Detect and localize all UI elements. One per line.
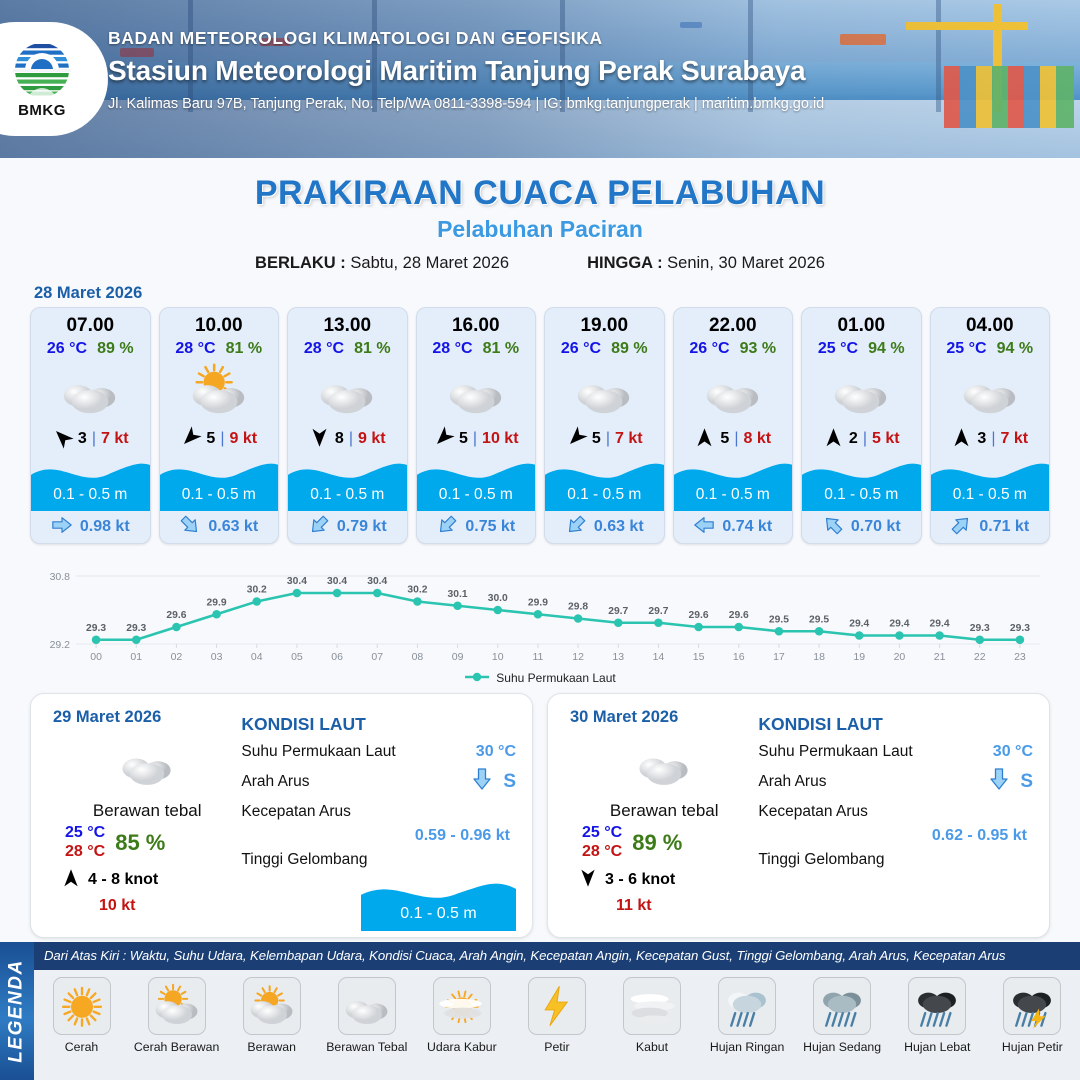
legend-item-label: Petir bbox=[544, 1040, 569, 1054]
card-time: 04.00 bbox=[931, 308, 1050, 337]
card-wind-row: 3 | 7 kt bbox=[931, 422, 1050, 456]
current-direction-arrow-icon bbox=[51, 514, 73, 541]
card-wave-height: 0.1 - 0.5 m bbox=[288, 486, 407, 504]
card-gust: 9 kt bbox=[358, 430, 386, 448]
current-direction-arrow-icon bbox=[822, 514, 844, 541]
svg-text:02: 02 bbox=[171, 651, 183, 663]
card-current-row: 0.63 kt bbox=[545, 511, 664, 543]
legend-side-tab: LEGENDA bbox=[0, 942, 34, 1080]
card-temperature: 26 °C bbox=[561, 340, 601, 358]
summary-wave-value: 0.1 - 0.5 m bbox=[361, 905, 516, 923]
sst-chart: 30.829.200010203040506070809101112131415… bbox=[30, 558, 1050, 670]
wave-height-row: Tinggi Gelombang bbox=[758, 845, 1033, 875]
bmkg-logo-mark bbox=[11, 39, 73, 101]
station-name: Stasiun Meteorologi Maritim Tanjung Pera… bbox=[108, 55, 824, 87]
card-humidity: 89 % bbox=[97, 340, 133, 358]
current-direction-arrow-icon bbox=[308, 514, 330, 541]
card-wave-graphic: 0.1 - 0.5 m bbox=[674, 457, 793, 511]
summary-gust: 11 kt bbox=[570, 897, 758, 915]
hourly-forecast-row: 07.00 26 °C 89 % 3 | 7 kt 0.1 - 0.5 m 0.… bbox=[0, 307, 1080, 544]
current-speed-row: Kecepatan Arus bbox=[241, 797, 516, 827]
summary-wave-graphic: 0.1 - 0.5 m bbox=[361, 877, 516, 931]
svg-text:19: 19 bbox=[853, 651, 865, 663]
legend-icon-cerah bbox=[53, 977, 111, 1035]
summary-weather-icon bbox=[570, 733, 758, 795]
svg-text:30.8: 30.8 bbox=[50, 571, 71, 583]
legend-icon-cerah-berawan bbox=[148, 977, 206, 1035]
card-weather-icon bbox=[931, 360, 1050, 422]
page-title-block: PRAKIRAAN CUACA PELABUHAN Pelabuhan Paci… bbox=[0, 174, 1080, 273]
valid-from-value: Sabtu, 28 Maret 2026 bbox=[350, 254, 509, 272]
legend-item: Udara Kabur bbox=[416, 977, 508, 1054]
card-weather-icon bbox=[288, 360, 407, 422]
wind-direction-arrow-icon bbox=[951, 427, 972, 452]
card-wind-speed: 8 bbox=[335, 430, 344, 448]
wave-height-row: Tinggi Gelombang bbox=[241, 845, 516, 875]
legend-item: Hujan Ringan bbox=[701, 977, 793, 1054]
svg-text:01: 01 bbox=[130, 651, 142, 663]
current-direction-value: S bbox=[1020, 771, 1033, 793]
svg-text:30.1: 30.1 bbox=[448, 589, 468, 600]
svg-text:12: 12 bbox=[572, 651, 584, 663]
summary-temps: 25 °C 28 °C bbox=[582, 824, 622, 862]
card-temperature: 26 °C bbox=[47, 340, 87, 358]
legend-icon-petir bbox=[528, 977, 586, 1035]
card-current-speed: 0.71 kt bbox=[979, 518, 1029, 536]
card-current-row: 0.75 kt bbox=[417, 511, 536, 543]
wind-separator: | bbox=[349, 430, 353, 448]
svg-text:29.4: 29.4 bbox=[889, 619, 909, 630]
legend-icon-hujan-petir bbox=[1003, 977, 1061, 1035]
card-humidity: 94 % bbox=[868, 340, 904, 358]
sst-chart-legend: Suhu Permukaan Laut bbox=[0, 671, 1080, 685]
svg-text:30.4: 30.4 bbox=[287, 576, 307, 587]
card-humidity: 81 % bbox=[483, 340, 519, 358]
page-header-banner: BMKG BADAN METEOROLOGI KLIMATOLOGI DAN G… bbox=[0, 0, 1080, 158]
card-current-speed: 0.75 kt bbox=[465, 518, 515, 536]
card-current-speed: 0.63 kt bbox=[594, 518, 644, 536]
sst-value: 30 °C bbox=[476, 743, 516, 761]
card-weather-icon bbox=[674, 360, 793, 422]
svg-text:22: 22 bbox=[974, 651, 986, 663]
wave-height-label: Tinggi Gelombang bbox=[758, 851, 884, 869]
current-direction-arrow-icon bbox=[565, 514, 587, 541]
contact-line: Jl. Kalimas Baru 97B, Tanjung Perak, No.… bbox=[108, 96, 824, 112]
svg-text:29.8: 29.8 bbox=[568, 602, 588, 613]
card-temperature: 26 °C bbox=[689, 340, 729, 358]
card-wave-height: 0.1 - 0.5 m bbox=[31, 486, 150, 504]
card-temp-humidity: 26 °C 89 % bbox=[31, 340, 150, 358]
current-speed-label: Kecepatan Arus bbox=[758, 803, 867, 821]
card-gust: 8 kt bbox=[743, 430, 771, 448]
summary-condition: Berawan tebal bbox=[570, 801, 758, 821]
sst-value: 30 °C bbox=[993, 743, 1033, 761]
svg-text:08: 08 bbox=[412, 651, 424, 663]
summary-date: 29 Maret 2026 bbox=[53, 708, 241, 727]
card-temperature: 28 °C bbox=[304, 340, 344, 358]
card-time: 10.00 bbox=[160, 308, 279, 337]
summary-condition: Berawan tebal bbox=[53, 801, 241, 821]
card-wind-speed: 5 bbox=[459, 430, 468, 448]
legend-side-title: LEGENDA bbox=[6, 959, 28, 1062]
legend-item-label: Cerah bbox=[65, 1040, 99, 1054]
card-wind-speed: 5 bbox=[592, 430, 601, 448]
svg-text:04: 04 bbox=[251, 651, 263, 663]
summary-wind-range: 4 - 8 knot bbox=[88, 871, 158, 889]
svg-text:17: 17 bbox=[773, 651, 785, 663]
current-direction-value-group: S bbox=[987, 767, 1033, 797]
sst-row: Suhu Permukaan Laut 30 °C bbox=[758, 737, 1033, 767]
card-temp-humidity: 28 °C 81 % bbox=[417, 340, 536, 358]
legend-item: Berawan Tebal bbox=[321, 977, 413, 1054]
wind-separator: | bbox=[606, 430, 610, 448]
legend-note: Dari Atas Kiri : Waktu, Suhu Udara, Kele… bbox=[34, 942, 1080, 970]
svg-text:16: 16 bbox=[733, 651, 745, 663]
summary-sea-conditions: KONDISI LAUT Suhu Permukaan Laut 30 °C A… bbox=[758, 708, 1049, 937]
card-current-speed: 0.70 kt bbox=[851, 518, 901, 536]
card-wind-row: 5 | 7 kt bbox=[545, 422, 664, 456]
svg-text:29.4: 29.4 bbox=[849, 619, 869, 630]
forecast-card: 01.00 25 °C 94 % 2 | 5 kt 0.1 - 0.5 m 0.… bbox=[801, 307, 922, 544]
svg-text:30.2: 30.2 bbox=[407, 585, 427, 596]
wind-direction-arrow-icon bbox=[823, 427, 844, 452]
svg-text:29.3: 29.3 bbox=[126, 623, 146, 634]
legend-item: Berawan bbox=[226, 977, 318, 1054]
card-wave-graphic: 0.1 - 0.5 m bbox=[931, 457, 1050, 511]
svg-text:20: 20 bbox=[894, 651, 906, 663]
card-wave-graphic: 0.1 - 0.5 m bbox=[31, 457, 150, 511]
svg-text:13: 13 bbox=[612, 651, 624, 663]
card-temp-humidity: 28 °C 81 % bbox=[288, 340, 407, 358]
card-wave-height: 0.1 - 0.5 m bbox=[931, 486, 1050, 504]
card-time: 13.00 bbox=[288, 308, 407, 337]
page-title: PRAKIRAAN CUACA PELABUHAN bbox=[0, 174, 1080, 213]
svg-text:14: 14 bbox=[653, 651, 665, 663]
forecast-card: 13.00 28 °C 81 % 8 | 9 kt 0.1 - 0.5 m 0.… bbox=[287, 307, 408, 544]
svg-text:09: 09 bbox=[452, 651, 464, 663]
sst-label: Suhu Permukaan Laut bbox=[241, 743, 395, 761]
legend-item: Kabut bbox=[606, 977, 698, 1054]
forecast-card: 10.00 28 °C 81 % 5 | 9 kt 0.1 - 0.5 m 0.… bbox=[159, 307, 280, 544]
summary-wind-direction-arrow-icon bbox=[61, 868, 81, 893]
legend-item-label: Kabut bbox=[636, 1040, 668, 1054]
svg-text:29.6: 29.6 bbox=[166, 610, 186, 621]
card-wave-graphic: 0.1 - 0.5 m bbox=[545, 457, 664, 511]
svg-text:30.4: 30.4 bbox=[327, 576, 347, 587]
card-wave-height: 0.1 - 0.5 m bbox=[160, 486, 279, 504]
current-speed-value: 0.62 - 0.95 kt bbox=[758, 827, 1033, 845]
current-direction-arrow-icon bbox=[693, 514, 715, 541]
wind-separator: | bbox=[92, 430, 96, 448]
current-direction-row: Arah Arus S bbox=[758, 767, 1033, 797]
summary-humidity: 85 % bbox=[115, 830, 165, 856]
card-wind-speed: 3 bbox=[78, 430, 87, 448]
card-wind-speed: 2 bbox=[849, 430, 858, 448]
sst-label: Suhu Permukaan Laut bbox=[758, 743, 912, 761]
wind-direction-arrow-icon bbox=[309, 427, 330, 452]
legend-item-label: Udara Kabur bbox=[427, 1040, 497, 1054]
card-wind-row: 2 | 5 kt bbox=[802, 422, 921, 456]
card-gust: 10 kt bbox=[482, 430, 518, 448]
summary-temps: 25 °C 28 °C bbox=[65, 824, 105, 862]
svg-text:05: 05 bbox=[291, 651, 303, 663]
legend-icon-kabut bbox=[623, 977, 681, 1035]
card-wave-height: 0.1 - 0.5 m bbox=[545, 486, 664, 504]
current-speed-value: 0.59 - 0.96 kt bbox=[241, 827, 516, 845]
card-wind-row: 5 | 9 kt bbox=[160, 422, 279, 456]
current-speed-row: Kecepatan Arus bbox=[758, 797, 1033, 827]
summary-temp-max: 28 °C bbox=[65, 843, 105, 862]
svg-text:29.3: 29.3 bbox=[86, 623, 106, 634]
card-gust: 7 kt bbox=[101, 430, 129, 448]
card-wave-height: 0.1 - 0.5 m bbox=[802, 486, 921, 504]
svg-text:29.7: 29.7 bbox=[648, 606, 668, 617]
svg-text:00: 00 bbox=[90, 651, 102, 663]
page-subtitle: Pelabuhan Paciran bbox=[0, 216, 1080, 243]
current-speed-block: Kecepatan Arus 0.59 - 0.96 kt bbox=[241, 797, 516, 845]
summary-wind-row: 3 - 6 knot bbox=[570, 868, 758, 893]
wind-separator: | bbox=[991, 430, 995, 448]
current-direction-value-group: S bbox=[470, 767, 516, 797]
current-direction-arrow-icon bbox=[950, 514, 972, 541]
legend-item-label: Hujan Ringan bbox=[710, 1040, 785, 1054]
current-speed-label: Kecepatan Arus bbox=[241, 803, 350, 821]
wind-separator: | bbox=[863, 430, 867, 448]
card-wind-row: 5 | 10 kt bbox=[417, 422, 536, 456]
svg-text:29.6: 29.6 bbox=[729, 610, 749, 621]
valid-until-label: HINGGA : bbox=[587, 254, 662, 272]
svg-text:29.3: 29.3 bbox=[1010, 623, 1030, 634]
current-direction-arrow-icon bbox=[436, 514, 458, 541]
svg-text:18: 18 bbox=[813, 651, 825, 663]
summary-temp-max: 28 °C bbox=[582, 843, 622, 862]
legend-items: Cerah Cerah Berawan Berawan Berawan Teba… bbox=[34, 970, 1080, 1080]
card-current-row: 0.79 kt bbox=[288, 511, 407, 543]
card-humidity: 94 % bbox=[997, 340, 1033, 358]
card-wave-height: 0.1 - 0.5 m bbox=[674, 486, 793, 504]
card-humidity: 89 % bbox=[611, 340, 647, 358]
daily-summary-row: 29 Maret 2026 Berawan tebal 25 °C 28 °C … bbox=[0, 685, 1080, 938]
card-temp-humidity: 25 °C 94 % bbox=[802, 340, 921, 358]
wind-direction-arrow-icon bbox=[566, 427, 587, 452]
card-wind-speed: 5 bbox=[720, 430, 729, 448]
wind-direction-arrow-icon bbox=[433, 427, 454, 452]
summary-temp-min: 25 °C bbox=[582, 824, 622, 843]
svg-text:29.5: 29.5 bbox=[769, 614, 789, 625]
legend-item: Hujan Lebat bbox=[891, 977, 983, 1054]
forecast-card: 04.00 25 °C 94 % 3 | 7 kt 0.1 - 0.5 m 0.… bbox=[930, 307, 1051, 544]
card-temp-humidity: 26 °C 93 % bbox=[674, 340, 793, 358]
svg-text:29.5: 29.5 bbox=[809, 614, 829, 625]
banner-text-block: BADAN METEOROLOGI KLIMATOLOGI DAN GEOFIS… bbox=[108, 28, 824, 112]
card-humidity: 81 % bbox=[354, 340, 390, 358]
forecast-card: 07.00 26 °C 89 % 3 | 7 kt 0.1 - 0.5 m 0.… bbox=[30, 307, 151, 544]
summary-humidity: 89 % bbox=[632, 830, 682, 856]
wind-direction-arrow-icon bbox=[694, 427, 715, 452]
agency-name: BADAN METEOROLOGI KLIMATOLOGI DAN GEOFIS… bbox=[108, 28, 824, 49]
sea-conditions-title: KONDISI LAUT bbox=[241, 714, 516, 735]
card-weather-icon bbox=[31, 360, 150, 422]
legend-item: Petir bbox=[511, 977, 603, 1054]
card-wind-speed: 5 bbox=[206, 430, 215, 448]
svg-text:29.6: 29.6 bbox=[689, 610, 709, 621]
card-time: 19.00 bbox=[545, 308, 664, 337]
legend-item: Hujan Sedang bbox=[796, 977, 888, 1054]
summary-current-arrow-icon bbox=[987, 767, 1011, 797]
card-wave-graphic: 0.1 - 0.5 m bbox=[802, 457, 921, 511]
svg-text:07: 07 bbox=[371, 651, 383, 663]
card-humidity: 93 % bbox=[740, 340, 776, 358]
summary-weather-icon bbox=[53, 733, 241, 795]
legend-item-label: Berawan bbox=[247, 1040, 296, 1054]
current-direction-label: Arah Arus bbox=[758, 773, 826, 791]
summary-left: 30 Maret 2026 Berawan tebal 25 °C 28 °C … bbox=[548, 708, 758, 937]
card-temp-humidity: 25 °C 94 % bbox=[931, 340, 1050, 358]
valid-from: BERLAKU : Sabtu, 28 Maret 2026 bbox=[255, 254, 509, 273]
forecast-card: 22.00 26 °C 93 % 5 | 8 kt 0.1 - 0.5 m 0.… bbox=[673, 307, 794, 544]
card-time: 16.00 bbox=[417, 308, 536, 337]
card-temperature: 25 °C bbox=[818, 340, 858, 358]
legend-icon-hujan-sedang bbox=[813, 977, 871, 1035]
svg-text:23: 23 bbox=[1014, 651, 1026, 663]
summary-wind-range: 3 - 6 knot bbox=[605, 871, 675, 889]
card-temperature: 28 °C bbox=[432, 340, 472, 358]
card-current-row: 0.74 kt bbox=[674, 511, 793, 543]
card-time: 07.00 bbox=[31, 308, 150, 337]
legend-item: Cerah bbox=[36, 977, 128, 1054]
legend-item-label: Hujan Petir bbox=[1002, 1040, 1063, 1054]
svg-text:29.9: 29.9 bbox=[207, 597, 227, 608]
summary-temp-hum-row: 25 °C 28 °C 89 % bbox=[570, 824, 758, 862]
current-direction-arrow-icon bbox=[179, 514, 201, 541]
card-temperature: 25 °C bbox=[946, 340, 986, 358]
wave-height-label: Tinggi Gelombang bbox=[241, 851, 367, 869]
svg-text:06: 06 bbox=[331, 651, 343, 663]
wind-direction-arrow-icon bbox=[52, 427, 73, 452]
svg-text:15: 15 bbox=[693, 651, 705, 663]
legend-icon-udara-kabur bbox=[433, 977, 491, 1035]
svg-text:11: 11 bbox=[532, 651, 543, 663]
summary-temp-hum-row: 25 °C 28 °C 85 % bbox=[53, 824, 241, 862]
legend-icon-hujan-lebat bbox=[908, 977, 966, 1035]
svg-text:29.3: 29.3 bbox=[970, 623, 990, 634]
wind-direction-arrow-icon bbox=[180, 427, 201, 452]
legend-icon-berawan bbox=[243, 977, 301, 1035]
card-weather-icon bbox=[160, 360, 279, 422]
legend-icon-berawan-tebal bbox=[338, 977, 396, 1035]
card-temperature: 28 °C bbox=[175, 340, 215, 358]
forecast-card: 16.00 28 °C 81 % 5 | 10 kt 0.1 - 0.5 m 0… bbox=[416, 307, 537, 544]
card-gust: 9 kt bbox=[229, 430, 257, 448]
card-gust: 7 kt bbox=[1000, 430, 1028, 448]
svg-text:29.2: 29.2 bbox=[50, 639, 71, 651]
legend-body: Dari Atas Kiri : Waktu, Suhu Udara, Kele… bbox=[34, 942, 1080, 1080]
card-gust: 7 kt bbox=[615, 430, 643, 448]
summary-temp-min: 25 °C bbox=[65, 824, 105, 843]
svg-text:10: 10 bbox=[492, 651, 504, 663]
summary-current-arrow-icon bbox=[470, 767, 494, 797]
svg-text:21: 21 bbox=[934, 651, 946, 663]
card-humidity: 81 % bbox=[226, 340, 262, 358]
legend-marker-icon bbox=[464, 671, 490, 685]
wind-separator: | bbox=[734, 430, 738, 448]
card-current-row: 0.70 kt bbox=[802, 511, 921, 543]
card-current-speed: 0.98 kt bbox=[80, 518, 130, 536]
card-temp-humidity: 28 °C 81 % bbox=[160, 340, 279, 358]
card-time: 01.00 bbox=[802, 308, 921, 337]
sst-chart-svg: 30.829.200010203040506070809101112131415… bbox=[30, 558, 1050, 670]
current-direction-row: Arah Arus S bbox=[241, 767, 516, 797]
bmkg-logo-text: BMKG bbox=[18, 102, 66, 119]
current-direction-value: S bbox=[503, 771, 516, 793]
card-weather-icon bbox=[802, 360, 921, 422]
legend-item-label: Cerah Berawan bbox=[134, 1040, 219, 1054]
card-time: 22.00 bbox=[674, 308, 793, 337]
current-direction-label: Arah Arus bbox=[241, 773, 309, 791]
svg-text:30.0: 30.0 bbox=[488, 593, 508, 604]
legend-icon-hujan-ringan bbox=[718, 977, 776, 1035]
card-gust: 5 kt bbox=[872, 430, 900, 448]
svg-text:03: 03 bbox=[211, 651, 223, 663]
wind-separator: | bbox=[473, 430, 477, 448]
summary-date: 30 Maret 2026 bbox=[570, 708, 758, 727]
legend-section: LEGENDA Dari Atas Kiri : Waktu, Suhu Uda… bbox=[0, 942, 1080, 1080]
valid-until-value: Senin, 30 Maret 2026 bbox=[667, 254, 825, 272]
wind-separator: | bbox=[220, 430, 224, 448]
summary-gust: 10 kt bbox=[53, 897, 241, 915]
legend-item-label: Berawan Tebal bbox=[326, 1040, 407, 1054]
card-current-row: 0.63 kt bbox=[160, 511, 279, 543]
svg-text:30.4: 30.4 bbox=[367, 576, 387, 587]
svg-text:29.4: 29.4 bbox=[930, 619, 950, 630]
card-current-speed: 0.63 kt bbox=[208, 518, 258, 536]
sea-conditions-title: KONDISI LAUT bbox=[758, 714, 1033, 735]
summary-left: 29 Maret 2026 Berawan tebal 25 °C 28 °C … bbox=[31, 708, 241, 937]
legend-item: Hujan Petir bbox=[986, 977, 1078, 1054]
summary-wind-row: 4 - 8 knot bbox=[53, 868, 241, 893]
card-wave-graphic: 0.1 - 0.5 m bbox=[288, 457, 407, 511]
card-current-row: 0.71 kt bbox=[931, 511, 1050, 543]
card-temp-humidity: 26 °C 89 % bbox=[545, 340, 664, 358]
card-current-speed: 0.74 kt bbox=[722, 518, 772, 536]
validity-row: BERLAKU : Sabtu, 28 Maret 2026 HINGGA : … bbox=[0, 254, 1080, 273]
forecast-card: 19.00 26 °C 89 % 5 | 7 kt 0.1 - 0.5 m 0.… bbox=[544, 307, 665, 544]
card-wind-row: 8 | 9 kt bbox=[288, 422, 407, 456]
card-wave-graphic: 0.1 - 0.5 m bbox=[160, 457, 279, 511]
legend-label: Suhu Permukaan Laut bbox=[496, 671, 615, 685]
card-wave-graphic: 0.1 - 0.5 m bbox=[417, 457, 536, 511]
card-weather-icon bbox=[545, 360, 664, 422]
card-wind-row: 5 | 8 kt bbox=[674, 422, 793, 456]
legend-item-label: Hujan Sedang bbox=[803, 1040, 881, 1054]
daily-summary-panel: 30 Maret 2026 Berawan tebal 25 °C 28 °C … bbox=[547, 693, 1050, 938]
valid-from-label: BERLAKU : bbox=[255, 254, 346, 272]
legend-item-label: Hujan Lebat bbox=[904, 1040, 970, 1054]
card-current-row: 0.98 kt bbox=[31, 511, 150, 543]
forecast-date-label: 28 Maret 2026 bbox=[34, 284, 1080, 303]
summary-sea-conditions: KONDISI LAUT Suhu Permukaan Laut 30 °C A… bbox=[241, 708, 532, 937]
card-wave-height: 0.1 - 0.5 m bbox=[417, 486, 536, 504]
card-weather-icon bbox=[417, 360, 536, 422]
card-wind-row: 3 | 7 kt bbox=[31, 422, 150, 456]
svg-text:30.2: 30.2 bbox=[247, 585, 267, 596]
card-current-speed: 0.79 kt bbox=[337, 518, 387, 536]
legend-item: Cerah Berawan bbox=[131, 977, 223, 1054]
sst-row: Suhu Permukaan Laut 30 °C bbox=[241, 737, 516, 767]
svg-text:29.7: 29.7 bbox=[608, 606, 628, 617]
daily-summary-panel: 29 Maret 2026 Berawan tebal 25 °C 28 °C … bbox=[30, 693, 533, 938]
valid-until: HINGGA : Senin, 30 Maret 2026 bbox=[587, 254, 825, 273]
